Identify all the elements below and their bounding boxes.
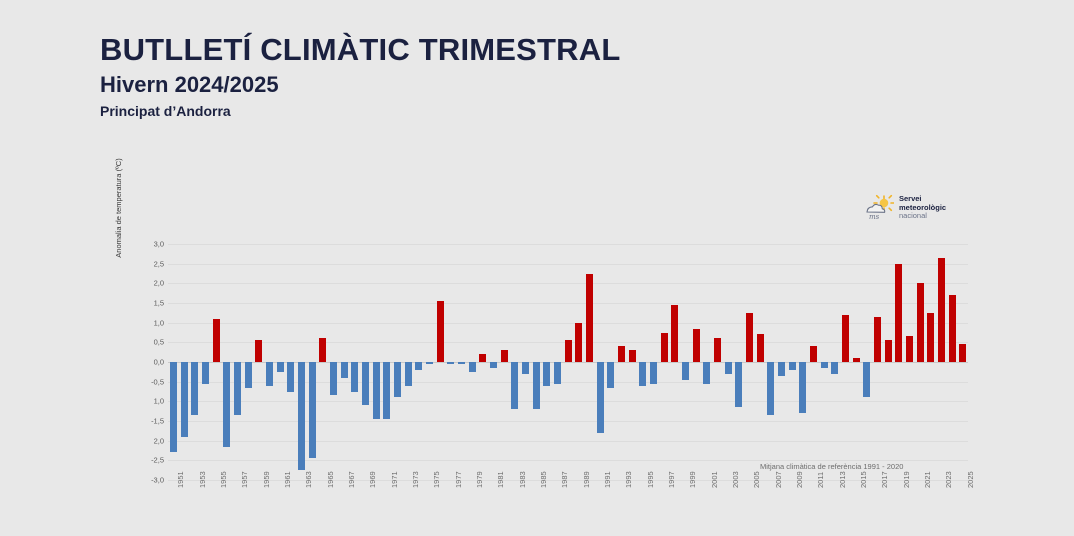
- bar-2018: [885, 340, 892, 362]
- x-tick-label: 1977: [454, 471, 463, 488]
- bar-1994: [629, 350, 636, 362]
- sun-cloud-icon: ms: [862, 192, 894, 224]
- bar-2009: [789, 362, 796, 370]
- bar-1999: [682, 362, 689, 380]
- bar-1955: [213, 319, 220, 362]
- x-tick-label: 2005: [752, 471, 761, 488]
- x-tick-label: 1971: [390, 471, 399, 488]
- bar-1993: [618, 346, 625, 362]
- reference-period-note: Mitjana climàtica de referència 1991 - 2…: [760, 462, 903, 471]
- bar-1963: [298, 362, 305, 470]
- bar-2004: [735, 362, 742, 407]
- bar-1987: [554, 362, 561, 384]
- gridline: [168, 264, 968, 265]
- bar-1968: [351, 362, 358, 392]
- y-tick-label: 2,0: [134, 436, 164, 445]
- temperature-anomaly-chart: Anomalia de temperatura (ºC) 3,02,52,01,…: [118, 244, 968, 494]
- x-tick-label: 2007: [774, 471, 783, 488]
- bar-2005: [746, 313, 753, 362]
- bar-1956: [223, 362, 230, 447]
- gridline: [168, 244, 968, 245]
- bar-2022: [927, 313, 934, 362]
- bar-1995: [639, 362, 646, 386]
- bar-2007: [767, 362, 774, 415]
- bar-2015: [853, 358, 860, 362]
- x-tick-label: 2017: [880, 471, 889, 488]
- gridline: [168, 421, 968, 422]
- x-tick-label: 1973: [411, 471, 420, 488]
- x-tick-label: 1963: [304, 471, 313, 488]
- bar-1958: [245, 362, 252, 388]
- bar-1971: [383, 362, 390, 419]
- bar-1988: [565, 340, 572, 362]
- svg-text:ms: ms: [869, 213, 880, 221]
- x-tick-label: 1967: [347, 471, 356, 488]
- bar-1996: [650, 362, 657, 384]
- bar-1970: [373, 362, 380, 419]
- x-tick-label: 2019: [902, 471, 911, 488]
- bar-2000: [693, 329, 700, 362]
- bar-1966: [330, 362, 337, 395]
- y-axis-ticks: 3,02,52,01,51,00,50,0-0,51,0-1,52,0-2,5-…: [118, 244, 164, 480]
- bar-2012: [821, 362, 828, 368]
- x-tick-label: 1959: [262, 471, 271, 488]
- bar-1978: [458, 362, 465, 364]
- plot-area: [168, 244, 968, 480]
- x-tick-label: 1995: [646, 471, 655, 488]
- bar-1992: [607, 362, 614, 388]
- gridline: [168, 401, 968, 402]
- x-tick-label: 2015: [859, 471, 868, 488]
- bar-2002: [714, 338, 721, 362]
- bar-1985: [533, 362, 540, 409]
- y-tick-label: 2,0: [134, 279, 164, 288]
- x-tick-label: 1987: [560, 471, 569, 488]
- y-tick-label: 2,5: [134, 259, 164, 268]
- x-tick-label: 1965: [326, 471, 335, 488]
- y-tick-label: 0,5: [134, 338, 164, 347]
- page-subtitle: Hivern 2024/2025: [100, 73, 620, 96]
- x-tick-label: 1983: [518, 471, 527, 488]
- x-tick-label: 1999: [688, 471, 697, 488]
- page-header: BUTLLETÍ CLIMÀTIC TRIMESTRAL Hivern 2024…: [100, 34, 620, 118]
- bar-1983: [511, 362, 518, 409]
- bar-1967: [341, 362, 348, 378]
- bar-1990: [586, 274, 593, 363]
- bar-2024: [949, 295, 956, 362]
- bar-2003: [725, 362, 732, 374]
- y-tick-label: -1,5: [134, 417, 164, 426]
- bar-1964: [309, 362, 316, 458]
- bar-2019: [895, 264, 902, 362]
- bar-1984: [522, 362, 529, 374]
- y-tick-label: 3,0: [134, 240, 164, 249]
- x-axis-ticks: 1951195319551957195919611963196519671969…: [168, 484, 968, 534]
- bar-1989: [575, 323, 582, 362]
- x-tick-label: 2009: [795, 471, 804, 488]
- gridline: [168, 441, 968, 442]
- x-tick-label: 1997: [667, 471, 676, 488]
- bar-1959: [255, 340, 262, 362]
- logo-line-3: nacional: [899, 212, 946, 220]
- bar-1953: [191, 362, 198, 415]
- y-tick-label: 1,5: [134, 299, 164, 308]
- bar-1960: [266, 362, 273, 386]
- x-tick-label: 1979: [475, 471, 484, 488]
- y-tick-label: -0,5: [134, 377, 164, 386]
- page-title: BUTLLETÍ CLIMÀTIC TRIMESTRAL: [100, 34, 620, 67]
- bar-1976: [437, 301, 444, 362]
- y-tick-label: 0,0: [134, 358, 164, 367]
- organization-logo: ms Servei meteorològic nacional: [862, 186, 962, 230]
- bar-2008: [778, 362, 785, 376]
- bar-1973: [405, 362, 412, 386]
- x-tick-label: 1951: [176, 471, 185, 488]
- bar-1969: [362, 362, 369, 405]
- page-subsubtitle: Principat d’Andorra: [100, 104, 620, 119]
- bar-1952: [181, 362, 188, 437]
- bar-2025: [959, 344, 966, 362]
- bar-2011: [810, 346, 817, 362]
- x-tick-label: 2013: [838, 471, 847, 488]
- bar-2023: [938, 258, 945, 362]
- y-tick-label: 1,0: [134, 397, 164, 406]
- bar-2016: [863, 362, 870, 397]
- bar-1965: [319, 338, 326, 362]
- bar-1962: [287, 362, 294, 392]
- bar-1982: [501, 350, 508, 362]
- x-tick-label: 2023: [944, 471, 953, 488]
- x-tick-label: 1981: [496, 471, 505, 488]
- x-tick-label: 1991: [603, 471, 612, 488]
- bar-2021: [917, 283, 924, 362]
- x-tick-label: 2021: [923, 471, 932, 488]
- bar-1979: [469, 362, 476, 372]
- y-tick-label: -3,0: [134, 476, 164, 485]
- bar-2020: [906, 336, 913, 362]
- gridline: [168, 303, 968, 304]
- bar-1991: [597, 362, 604, 433]
- bar-1974: [415, 362, 422, 370]
- x-tick-label: 1961: [283, 471, 292, 488]
- bar-1981: [490, 362, 497, 368]
- bar-1951: [170, 362, 177, 452]
- x-tick-label: 1993: [624, 471, 633, 488]
- bar-1986: [543, 362, 550, 386]
- bar-1980: [479, 354, 486, 362]
- x-tick-label: 2001: [710, 471, 719, 488]
- x-tick-label: 1969: [368, 471, 377, 488]
- bar-1961: [277, 362, 284, 372]
- x-tick-label: 1957: [240, 471, 249, 488]
- bar-2013: [831, 362, 838, 374]
- x-tick-label: 2003: [731, 471, 740, 488]
- x-tick-label: 1989: [582, 471, 591, 488]
- bar-1998: [671, 305, 678, 362]
- bar-1997: [661, 333, 668, 363]
- y-tick-label: 1,0: [134, 318, 164, 327]
- gridline: [168, 283, 968, 284]
- x-tick-label: 1985: [539, 471, 548, 488]
- x-tick-label: 2025: [966, 471, 975, 488]
- x-tick-label: 1975: [432, 471, 441, 488]
- x-tick-label: 1955: [219, 471, 228, 488]
- bar-1975: [426, 362, 433, 364]
- bar-2006: [757, 334, 764, 362]
- bar-1977: [447, 362, 454, 364]
- bar-1954: [202, 362, 209, 384]
- y-tick-label: -2,5: [134, 456, 164, 465]
- bar-2010: [799, 362, 806, 413]
- bar-2014: [842, 315, 849, 362]
- bar-1957: [234, 362, 241, 415]
- x-tick-label: 2011: [816, 472, 825, 488]
- bar-1972: [394, 362, 401, 397]
- bar-2001: [703, 362, 710, 384]
- x-tick-label: 1953: [198, 471, 207, 488]
- bar-2017: [874, 317, 881, 362]
